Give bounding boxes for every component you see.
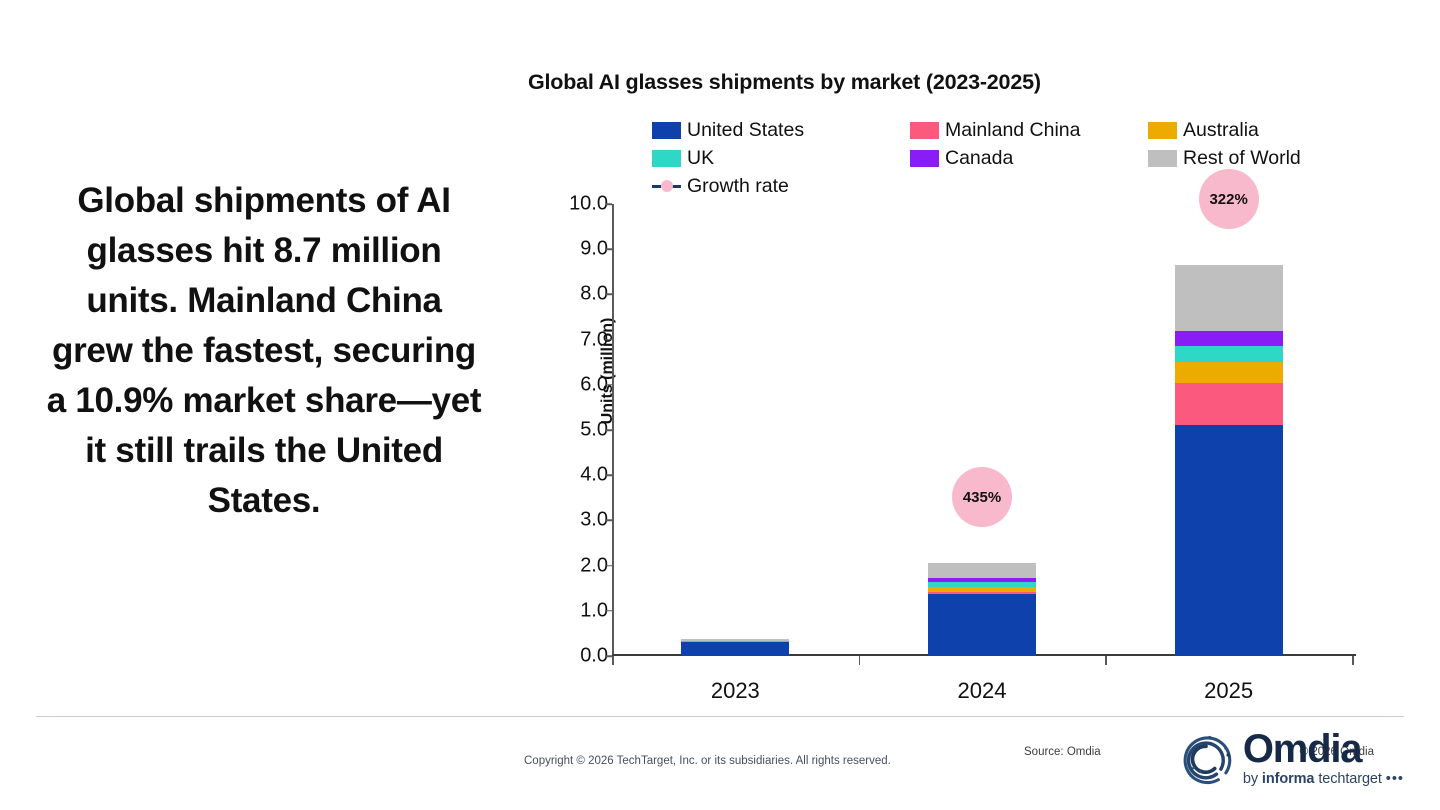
y-tick-label: 1.0 [550, 599, 608, 622]
legend-swatch-mainland-china [910, 122, 939, 139]
bar-stack [681, 639, 789, 656]
y-tick-label: 2.0 [550, 554, 608, 577]
legend-label-uk: UK [687, 147, 714, 170]
y-tick-label: 0.0 [550, 645, 608, 668]
legend-swatch-united-states [652, 122, 681, 139]
bar-segment-united-states[interactable] [1175, 425, 1283, 656]
y-tick-mark [605, 203, 612, 205]
bar-segment-rest-of-world[interactable] [928, 563, 1036, 578]
y-tick-label: 10.0 [550, 193, 608, 216]
legend-label-canada: Canada [945, 147, 1013, 170]
chart-panel: Global AI glasses shipments by market (2… [500, 52, 1410, 712]
y-tick-mark [605, 610, 612, 612]
bar-segment-united-states[interactable] [681, 642, 789, 656]
legend-swatch-rest-of-world [1148, 150, 1177, 167]
headline-panel: Global shipments of AI glasses hit 8.7 m… [44, 176, 484, 526]
omdia-tagline-dots: ••• [1386, 771, 1404, 787]
y-tick-label: 6.0 [550, 373, 608, 396]
legend-item-united-states[interactable]: United States [652, 119, 910, 142]
y-tick-mark [605, 339, 612, 341]
omdia-tagline-bold: informa [1262, 771, 1314, 787]
legend-item-rest-of-world[interactable]: Rest of World [1148, 147, 1328, 170]
legend-swatch-australia [1148, 122, 1177, 139]
source-note: Source: Omdia [1024, 746, 1101, 758]
legend-item-uk[interactable]: UK [652, 147, 910, 170]
y-tick-label: 5.0 [550, 419, 608, 442]
growth-rate-marker-icon [652, 178, 681, 195]
bar-stack [1175, 265, 1283, 656]
growth-rate-bubble-2025[interactable]: 322% [1199, 169, 1259, 229]
y-tick-label: 7.0 [550, 328, 608, 351]
legend-item-australia[interactable]: Australia [1148, 119, 1328, 142]
footer-copyright: Copyright © 2026 TechTarget, Inc. or its… [524, 755, 891, 767]
y-tick-mark [605, 384, 612, 386]
bar-segment-rest-of-world[interactable] [1175, 265, 1283, 331]
bar-group-2024: 2024 [928, 204, 1036, 656]
y-tick-mark [605, 248, 612, 250]
legend-label-rest-of-world: Rest of World [1183, 147, 1301, 170]
legend-label-mainland-china: Mainland China [945, 119, 1081, 142]
y-tick-mark [605, 565, 612, 567]
omdia-tagline-prefix: by [1243, 771, 1262, 787]
y-tick-mark [605, 474, 612, 476]
legend-row: United States Mainland China Australia [652, 116, 1332, 144]
y-tick-label: 8.0 [550, 283, 608, 306]
omdia-wordmark: Omdia [1243, 729, 1404, 769]
x-tick-mark [612, 656, 614, 665]
x-axis-label-2023: 2023 [681, 678, 789, 704]
legend-label-united-states: United States [687, 119, 804, 142]
omdia-logo-mark-icon [1175, 727, 1237, 789]
legend-row: UK Canada Rest of World [652, 144, 1332, 172]
bar-segment-australia[interactable] [1175, 362, 1283, 382]
omdia-tagline: by informa techtarget ••• [1243, 771, 1404, 787]
legend-swatch-uk [652, 150, 681, 167]
footer-divider [36, 716, 1404, 717]
x-tick-mark [859, 656, 861, 665]
x-axis-label-2024: 2024 [928, 678, 1036, 704]
y-tick-mark [605, 294, 612, 296]
x-tick-mark [1105, 656, 1107, 665]
legend-label-growth-rate: Growth rate [687, 175, 789, 198]
y-tick-mark [605, 429, 612, 431]
omdia-wordmark-wrap: Omdia by informa techtarget ••• [1243, 729, 1404, 787]
y-tick-mark [605, 520, 612, 522]
x-tick-mark [1352, 656, 1354, 665]
y-axis-line [612, 204, 614, 656]
legend-item-growth-rate[interactable]: Growth rate [652, 175, 910, 198]
bar-group-2023: 2023 [681, 204, 789, 656]
bar-group-2025: 2025 [1175, 204, 1283, 656]
x-axis-label-2025: 2025 [1175, 678, 1283, 704]
growth-rate-bubble-2024[interactable]: 435% [952, 467, 1012, 527]
chart-title: Global AI glasses shipments by market (2… [528, 70, 1041, 95]
bar-segment-uk[interactable] [1175, 346, 1283, 362]
legend-swatch-canada [910, 150, 939, 167]
headline-text: Global shipments of AI glasses hit 8.7 m… [44, 176, 484, 526]
legend-label-australia: Australia [1183, 119, 1259, 142]
omdia-tagline-suffix: techtarget [1314, 771, 1381, 787]
omdia-logo: Omdia by informa techtarget ••• [1175, 727, 1404, 789]
plot-area: Units (million) 0.01.02.03.04.05.06.07.0… [612, 204, 1352, 656]
legend-item-canada[interactable]: Canada [910, 147, 1148, 170]
bar-segment-mainland-china[interactable] [1175, 383, 1283, 426]
y-tick-mark [605, 655, 612, 657]
bar-stack [928, 563, 1036, 656]
y-tick-label: 3.0 [550, 509, 608, 532]
legend-item-mainland-china[interactable]: Mainland China [910, 119, 1148, 142]
y-tick-label: 9.0 [550, 238, 608, 261]
y-tick-label: 4.0 [550, 464, 608, 487]
bar-segment-united-states[interactable] [928, 594, 1036, 656]
bar-segment-canada[interactable] [1175, 331, 1283, 347]
